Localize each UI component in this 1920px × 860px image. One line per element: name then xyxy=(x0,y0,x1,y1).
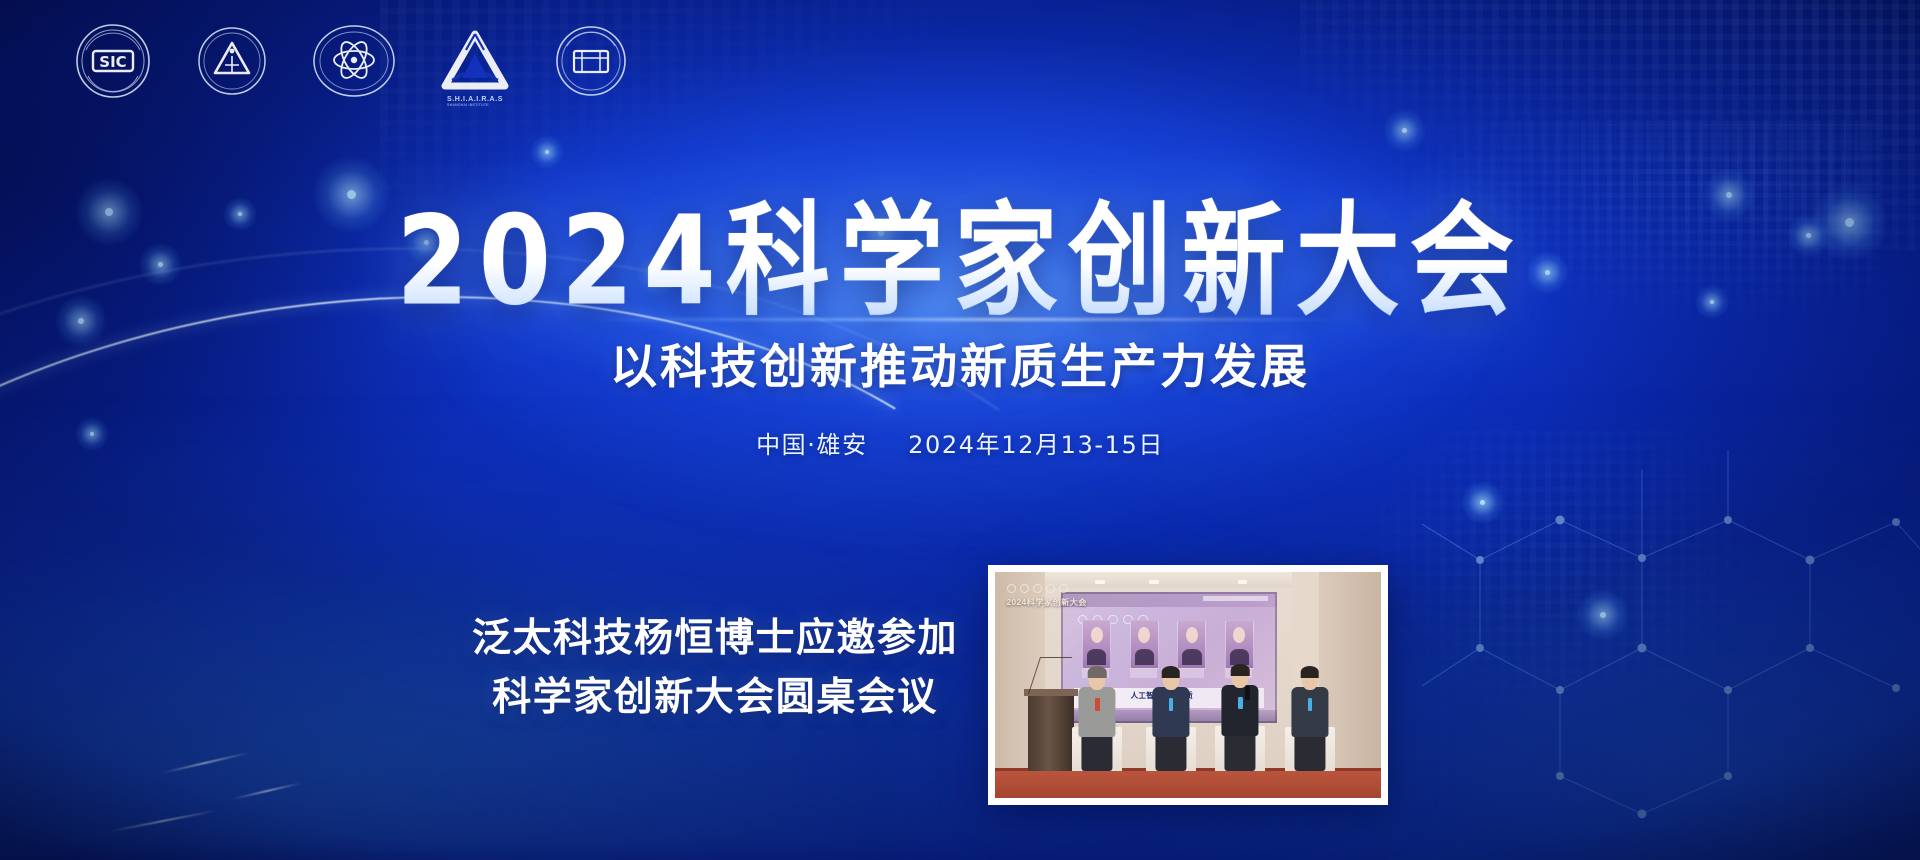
photo-stage-logo-icon xyxy=(1020,584,1029,593)
atom-seal-logo xyxy=(312,22,396,100)
photo-speaker-portrait xyxy=(1082,620,1111,669)
university-seal-logo xyxy=(554,24,628,98)
photo-ceiling-light xyxy=(1095,580,1104,584)
photo-panelist xyxy=(1146,667,1196,771)
svg-text:SIC: SIC xyxy=(99,53,126,71)
photo-stage-logo-icon xyxy=(1059,584,1068,593)
photo-panelist-speaking xyxy=(1215,665,1265,771)
photo-panelist-legs xyxy=(1225,731,1256,771)
delta-institute-logo: S.H.I.A.I.R.A.S SHANGHAI INSTITUTE xyxy=(440,28,510,94)
event-meta-line: 中国·雄安 2024年12月13-15日 xyxy=(0,425,1920,460)
photo-panelist-hair xyxy=(1161,666,1180,678)
photo-content: 人工智能助力新质 xyxy=(995,572,1381,798)
photo-panelist-legs xyxy=(1155,731,1186,771)
photo-panelist-body xyxy=(1222,685,1259,736)
delta-institute-logo-caption: S.H.I.A.I.R.A.S SHANGHAI INSTITUTE xyxy=(447,96,503,107)
photo-panelist-lanyard xyxy=(1095,698,1100,710)
triangle-seal-logo xyxy=(196,25,268,97)
photo-speaker-portrait xyxy=(1225,620,1254,669)
photo-stage-logo-icon xyxy=(1007,584,1016,593)
photo-speaker-portrait xyxy=(1130,620,1159,669)
photo-panelist-hair xyxy=(1300,666,1319,678)
event-location: 中国·雄安 xyxy=(756,431,868,459)
photo-screen-header-logo xyxy=(1203,596,1268,602)
photo-stage-banner-text: 2024科学家创新大会 xyxy=(1007,597,1087,608)
title-block: 2024科学家创新大会 以科技创新推动新质生产力发展 中国·雄安 2024年12… xyxy=(0,196,1920,460)
photo-panelist-legs xyxy=(1082,731,1113,771)
photo-panelist-lanyard xyxy=(1308,698,1313,710)
roundtable-panel-photo: 人工智能助力新质 xyxy=(988,565,1388,805)
photo-panelist-lanyard xyxy=(1169,698,1174,710)
photo-panelist-legs xyxy=(1294,731,1325,771)
photo-stage-floor xyxy=(995,771,1381,798)
photo-stage-logo-icon xyxy=(1046,584,1055,593)
event-caption-line-2: 科学家创新大会圆桌会议 xyxy=(455,669,975,728)
page-subtitle: 以科技创新推动新质生产力发展 xyxy=(0,328,1920,397)
photo-stage-logo-icon xyxy=(1033,584,1042,593)
event-caption: 泛太科技杨恒博士应邀参加 科学家创新大会圆桌会议 xyxy=(455,610,975,727)
photo-panelist-hair xyxy=(1088,666,1107,678)
photo-panelist-lanyard xyxy=(1238,697,1243,710)
organizer-logo-row: SIC xyxy=(74,22,628,100)
photo-podium xyxy=(1028,694,1074,771)
photo-ceiling-light xyxy=(1149,580,1158,584)
photo-speaker-portrait xyxy=(1177,620,1206,669)
photo-panelist-body xyxy=(1079,687,1116,737)
event-caption-line-1: 泛太科技杨恒博士应邀参加 xyxy=(455,610,975,669)
sic-emblem-logo: SIC xyxy=(74,22,152,100)
photo-stage-logo-strip xyxy=(1007,584,1068,593)
photo-panelist xyxy=(1072,667,1122,771)
title-underline-light xyxy=(580,318,1340,321)
event-date-range: 2024年12月13-15日 xyxy=(908,431,1164,459)
photo-panelist-hair xyxy=(1231,664,1250,677)
page-title: 2024科学家创新大会 xyxy=(0,196,1920,326)
photo-panelist-body xyxy=(1152,687,1189,737)
photo-panelist xyxy=(1285,667,1335,771)
photo-ceiling-light xyxy=(1238,580,1247,584)
photo-handheld-microphone xyxy=(1245,686,1250,700)
photo-panelist-body xyxy=(1291,687,1328,737)
conference-banner: SIC xyxy=(0,0,1920,860)
